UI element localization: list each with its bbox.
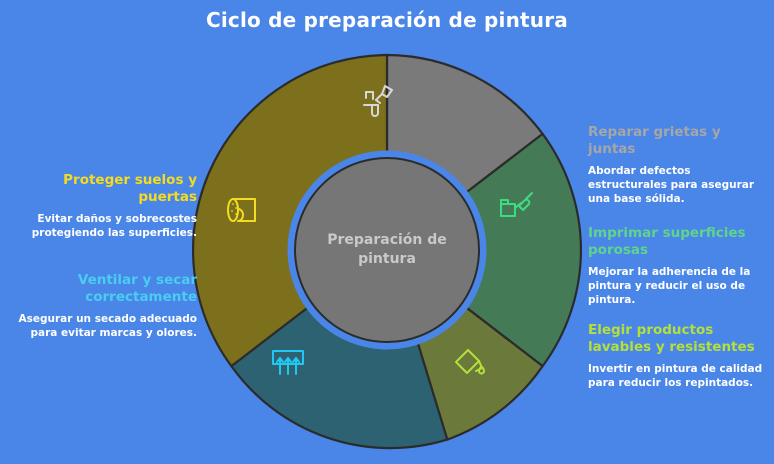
callout-repair-body: Abordar defectos estructurales para aseg…: [588, 164, 766, 207]
callout-vent: Ventilar y secar correctamente Asegurar …: [12, 272, 197, 340]
callout-prime-body: Mejorar la adherencia de la pintura y re…: [588, 265, 766, 308]
protective-roll-icon: [225, 186, 271, 232]
paint-bucket-icon: [447, 340, 493, 386]
paintbrush-icon: [493, 184, 539, 230]
callout-prime-heading: Imprimar superficies porosas: [588, 225, 766, 260]
callout-protect-body: Evitar daños y sobrecostes protegiendo l…: [12, 212, 197, 240]
callout-product-heading: Elegir productos lavables y resistentes: [588, 322, 766, 357]
callout-repair-heading: Reparar grietas y juntas: [588, 124, 766, 159]
callout-vent-body: Asegurar un secado adecuado para evitar …: [12, 312, 197, 340]
crack-repair-icon: [352, 80, 398, 126]
callout-product: Elegir productos lavables y resistentes …: [588, 322, 766, 390]
callout-vent-heading: Ventilar y secar correctamente: [12, 272, 197, 307]
ventilation-icon: [265, 338, 311, 384]
callout-protect-heading: Proteger suelos y puertas: [12, 172, 197, 207]
callout-protect: Proteger suelos y puertas Evitar daños y…: [12, 172, 197, 240]
callout-product-body: Invertir en pintura de calidad para redu…: [588, 362, 766, 390]
callout-repair: Reparar grietas y juntas Abordar defecto…: [588, 124, 766, 206]
hub-circle: [295, 158, 479, 342]
infographic-canvas: Ciclo de preparación de pintura Preparac…: [0, 0, 774, 464]
page-title: Ciclo de preparación de pintura: [0, 8, 774, 32]
callout-prime: Imprimar superficies porosas Mejorar la …: [588, 225, 766, 307]
